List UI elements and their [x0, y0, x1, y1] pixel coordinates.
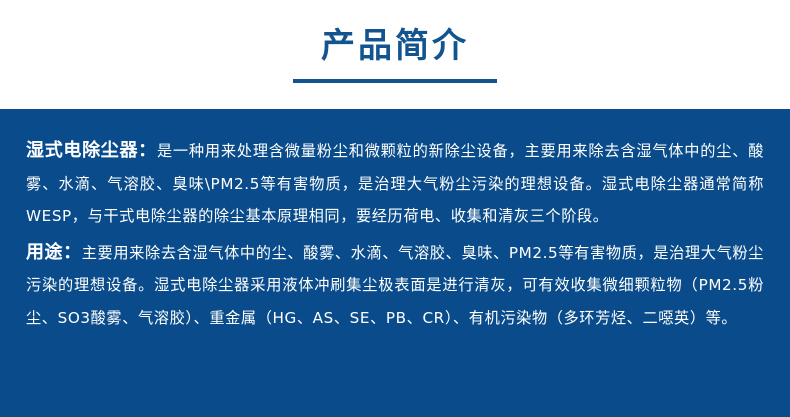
paragraph-body-text: 主要用来除去含湿气体中的尘、酸雾、水滴、气溶胶、臭味、PM2.5等有害物质，是治…: [26, 244, 764, 327]
paragraph-lead-label: 用途: [26, 242, 63, 263]
paragraph-lead-label: 湿式电除尘器: [26, 140, 138, 161]
page-header: 产品简介: [0, 0, 790, 109]
description-panel: 湿式电除尘器：是一种用来处理含微量粉尘和微颗粒的新除尘设备，主要用来除去含湿气体…: [0, 109, 790, 417]
paragraph-lead-separator: ：: [63, 242, 82, 263]
page-title: 产品简介: [321, 26, 469, 66]
paragraph-usage: 用途：主要用来除去含湿气体中的尘、酸雾、水滴、气溶胶、臭味、PM2.5等有害物质…: [26, 237, 764, 335]
paragraph-wet-esp-intro: 湿式电除尘器：是一种用来处理含微量粉尘和微颗粒的新除尘设备，主要用来除去含湿气体…: [26, 135, 764, 233]
product-introduction-page: 产品简介 湿式电除尘器：是一种用来处理含微量粉尘和微颗粒的新除尘设备，主要用来除…: [0, 0, 790, 417]
title-underline: [293, 79, 497, 83]
paragraph-lead-separator: ：: [138, 140, 157, 161]
